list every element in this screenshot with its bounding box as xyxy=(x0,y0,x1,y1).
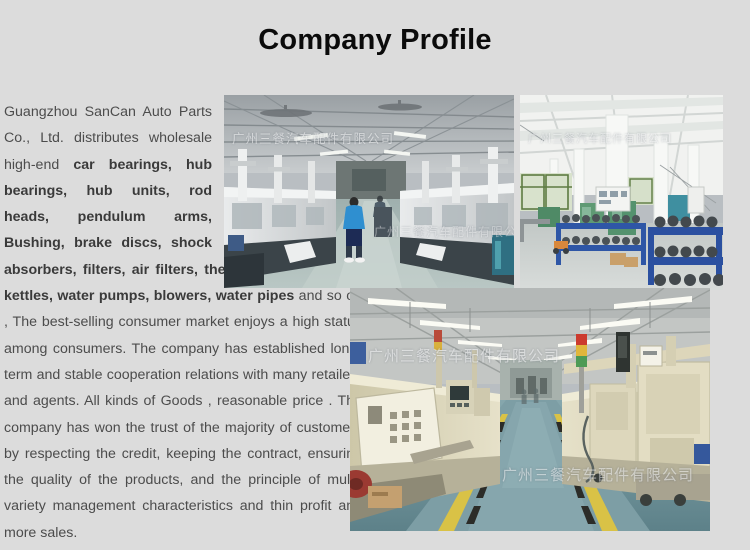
company-profile-page: Company Profile Guangzhou SanCan Auto Pa… xyxy=(0,0,750,550)
machining-hall-illustration xyxy=(224,95,514,288)
photo-machining-hall: 广州三餐汽车配件有限公司 广州三餐汽车配件有限公司 xyxy=(224,95,514,288)
page-title: Company Profile xyxy=(0,24,750,57)
photo-production-aisle: 广州三餐汽车配件有限公司 广州三餐汽车配件有限公司 xyxy=(350,288,710,531)
production-aisle-illustration xyxy=(350,288,710,531)
photo-warehouse: 广州三餐汽车配件有限公司 xyxy=(520,95,723,290)
description-run: and so on , The best-selling consumer ma… xyxy=(4,288,362,541)
warehouse-illustration xyxy=(520,95,723,290)
